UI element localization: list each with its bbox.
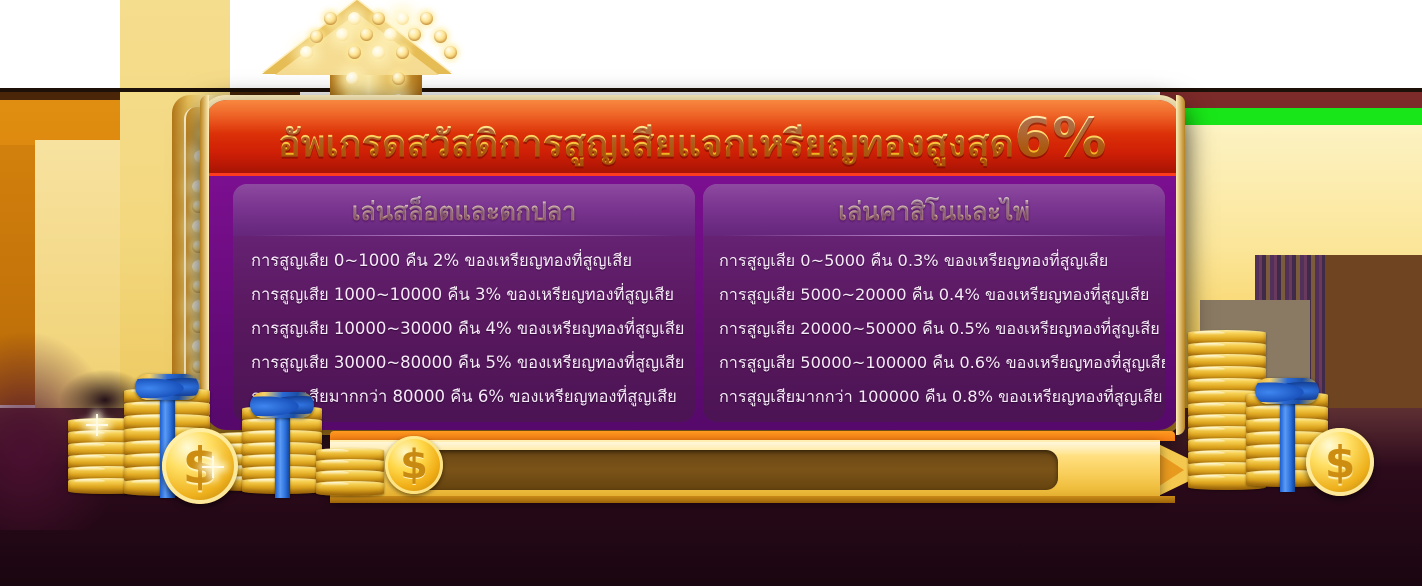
marquee-bulb bbox=[360, 28, 373, 41]
list-item: การสูญเสีย 0~1000 คืน 2% ของเหรียญทองที่… bbox=[233, 244, 695, 278]
dollar-symbol: $ bbox=[162, 428, 238, 504]
list-item: การสูญเสีย 1000~10000 คืน 3% ของเหรียญทอ… bbox=[233, 278, 695, 312]
marquee-bulb bbox=[384, 28, 397, 41]
panel-casino-cards: เล่นคาสิโนและไพ่ การสูญเสีย 0~5000 คืน 0… bbox=[703, 184, 1165, 422]
dollar-symbol: $ bbox=[1306, 428, 1374, 496]
list-item: การสูญเสีย 0~5000 คืน 0.3% ของเหรียญทองท… bbox=[703, 244, 1165, 278]
marquee-bulb bbox=[346, 72, 359, 85]
background-maroon-bar bbox=[1160, 90, 1422, 110]
marquee-bulb bbox=[348, 46, 361, 59]
dollar-symbol: $ bbox=[385, 436, 443, 494]
panel-header-divider bbox=[251, 235, 677, 236]
page-title: อัพเกรดสวัสดิการสูญเสียแจกเหรียญทองสูงสุ… bbox=[205, 106, 1180, 173]
marquee-bulb bbox=[300, 46, 313, 59]
panel-header-label: เล่นคาสิโนและไพ่ bbox=[703, 192, 1165, 232]
promo-banner: อัพเกรดสวัสดิการสูญเสียแจกเหรียญทองสูงสุ… bbox=[0, 0, 1422, 586]
ribbon-underside bbox=[330, 496, 1175, 503]
list-item: การสูญเสียมากกว่า 100000 คืน 0.8% ของเหร… bbox=[703, 380, 1165, 414]
title-percent: 6% bbox=[1014, 106, 1107, 169]
marquee-bulb bbox=[392, 72, 405, 85]
marquee-bulb bbox=[396, 12, 409, 25]
marquee-bulb bbox=[434, 30, 447, 43]
gold-ribbon-bar bbox=[330, 440, 1210, 500]
coin-pile-right: $ bbox=[1180, 330, 1400, 520]
list-item: การสูญเสีย 20000~50000 คืน 0.5% ของเหรีย… bbox=[703, 312, 1165, 346]
marquee-bulb bbox=[372, 46, 385, 59]
marquee-bulb bbox=[420, 12, 433, 25]
marquee-bulb bbox=[324, 12, 337, 25]
marquee-bulb bbox=[348, 12, 361, 25]
marquee-bulb bbox=[372, 12, 385, 25]
background-green-bar bbox=[1185, 108, 1422, 125]
dollar-coin-icon: $ bbox=[1306, 428, 1374, 496]
marquee-bulb bbox=[336, 28, 349, 41]
marquee-bulb bbox=[396, 46, 409, 59]
coin-stack bbox=[316, 481, 384, 496]
title-main-text: อัพเกรดสวัสดิการสูญเสียแจกเหรียญทองสูงสุ… bbox=[278, 122, 1014, 165]
list-item: การสูญเสีย 50000~100000 คืน 0.6% ของเหรี… bbox=[703, 346, 1165, 380]
dollar-coin-icon: $ bbox=[162, 428, 238, 504]
blue-ribbon-bow-icon bbox=[242, 406, 322, 498]
list-item: การสูญเสีย 5000~20000 คืน 0.4% ของเหรียญ… bbox=[703, 278, 1165, 312]
marquee-bulb bbox=[408, 28, 421, 41]
dollar-coin-icon: $ bbox=[385, 436, 443, 494]
marquee-bulb bbox=[444, 46, 457, 59]
panel-rows-list: การสูญเสีย 0~5000 คืน 0.3% ของเหรียญทองท… bbox=[703, 238, 1165, 414]
marquee-bulb bbox=[310, 30, 323, 43]
coin-pile-left: $ bbox=[30, 360, 370, 510]
panel-header-divider bbox=[721, 235, 1147, 236]
panel-header-label: เล่นสล็อตและตกปลา bbox=[233, 192, 695, 232]
ribbon-text-field[interactable] bbox=[418, 450, 1058, 490]
list-item: การสูญเสีย 10000~30000 คืน 4% ของเหรียญท… bbox=[233, 312, 695, 346]
